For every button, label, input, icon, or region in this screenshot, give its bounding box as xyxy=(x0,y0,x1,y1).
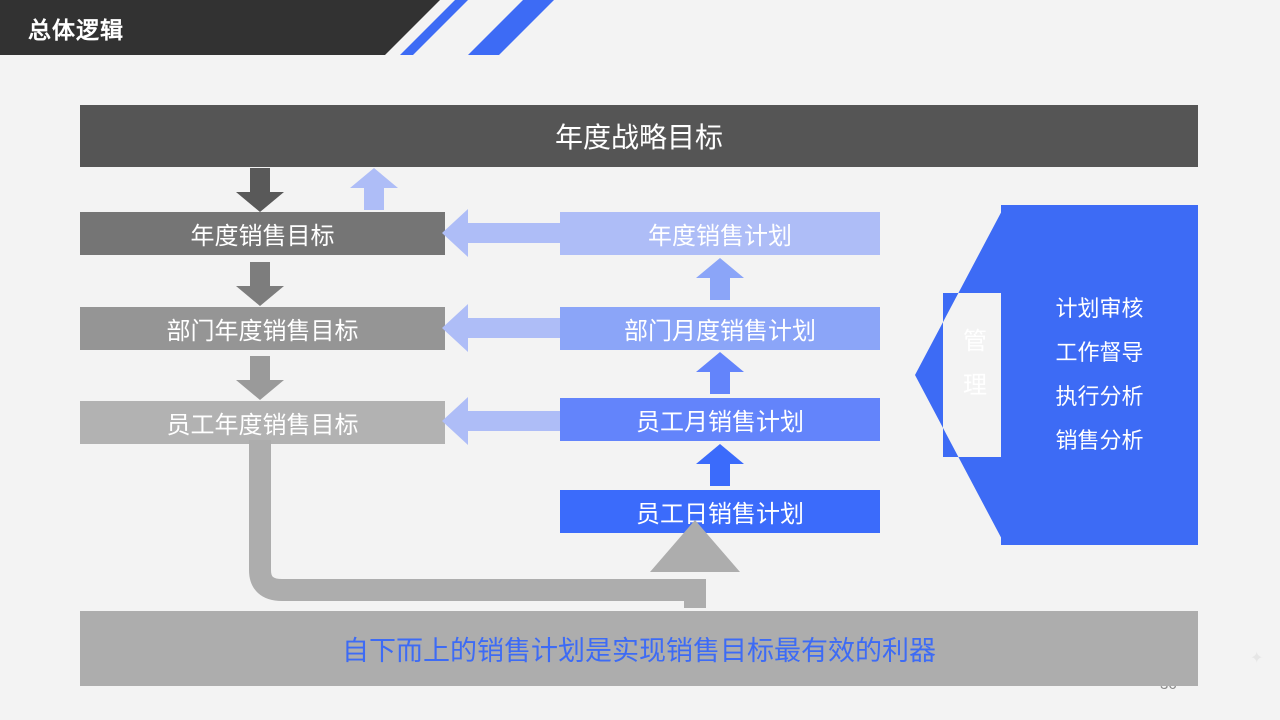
down-arrow-icon-1 xyxy=(236,168,284,212)
management-chevron-label: 管 理 xyxy=(955,320,995,408)
plan-label-employee-monthly: 员工月销售计划 xyxy=(636,402,804,437)
plan-box-employee-monthly: 员工月销售计划 xyxy=(560,398,880,441)
up-arrow-icon-top xyxy=(350,168,398,210)
goal-label-employee: 员工年度销售目标 xyxy=(167,405,359,440)
management-item-sales-analysis: 销售分析 xyxy=(1055,419,1143,463)
left-arrow-icon-1 xyxy=(442,209,560,257)
management-item-plan-review: 计划审核 xyxy=(1055,287,1143,331)
left-arrow-icon-2 xyxy=(442,304,560,352)
slide-body: 36 年度战略目标 年度销售目标 部门年度销售目标 员工年度销售目标 年度销售计… xyxy=(0,0,1280,720)
management-item-execution-analysis: 执行分析 xyxy=(1055,375,1143,419)
goal-box-annual: 年度销售目标 xyxy=(80,212,445,255)
plan-label-annual: 年度销售计划 xyxy=(648,216,792,251)
feedback-elbow-arrow-icon xyxy=(240,440,760,608)
left-arrow-icon-3 xyxy=(442,397,560,445)
management-chevron-line-2: 理 xyxy=(955,364,995,408)
up-arrow-icon-1 xyxy=(696,258,744,300)
management-chevron-line-1: 管 xyxy=(955,320,995,364)
management-item-work-supervision: 工作督导 xyxy=(1055,331,1143,375)
up-arrow-icon-2 xyxy=(696,352,744,394)
plan-box-department-monthly: 部门月度销售计划 xyxy=(560,307,880,350)
bottom-banner-label: 自下而上的销售计划是实现销售目标最有效的利器 xyxy=(342,629,936,668)
plan-box-annual: 年度销售计划 xyxy=(560,212,880,255)
goal-box-employee: 员工年度销售目标 xyxy=(80,401,445,444)
cursor-marker-icon: ✦ xyxy=(1250,652,1260,666)
management-panel: 计划审核 工作督导 执行分析 销售分析 xyxy=(1001,205,1198,545)
goal-label-department: 部门年度销售目标 xyxy=(167,311,359,346)
goal-label-annual: 年度销售目标 xyxy=(191,216,335,251)
bottom-banner: 自下而上的销售计划是实现销售目标最有效的利器 xyxy=(80,611,1198,686)
down-arrow-icon-2 xyxy=(236,262,284,306)
plan-label-department-monthly: 部门月度销售计划 xyxy=(624,311,816,346)
strategic-goal-box: 年度战略目标 xyxy=(80,105,1198,167)
strategic-goal-label: 年度战略目标 xyxy=(555,116,723,156)
down-arrow-icon-3 xyxy=(236,356,284,400)
goal-box-department: 部门年度销售目标 xyxy=(80,307,445,350)
